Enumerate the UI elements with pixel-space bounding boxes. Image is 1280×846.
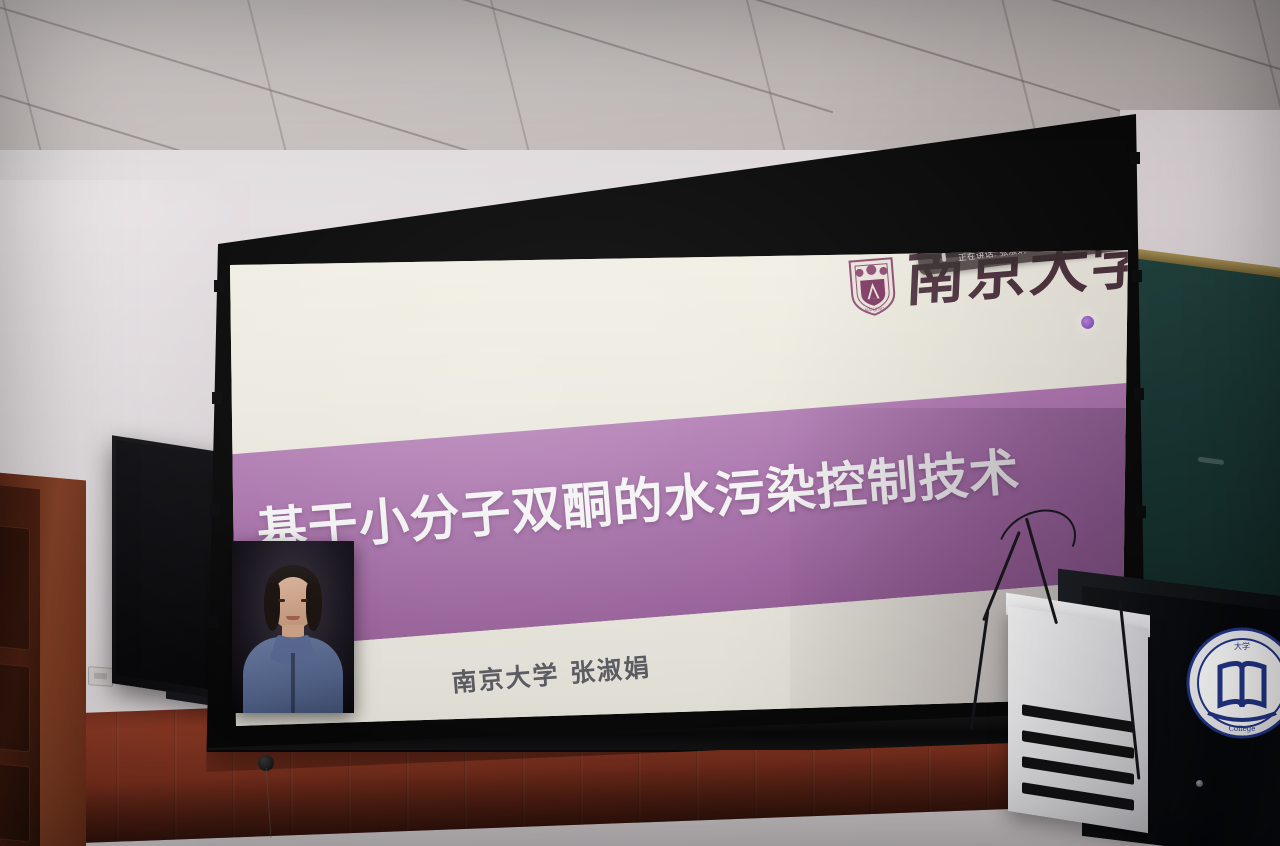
av-equipment-box — [1008, 606, 1148, 833]
speaker-video-thumbnail[interactable] — [232, 541, 354, 713]
svg-text:College: College — [1229, 725, 1256, 733]
lectern-screw — [1196, 780, 1203, 787]
door[interactable] — [0, 483, 40, 846]
lecture-hall-photo: NANJING 南京大学 正在讲话: 张淑娟 — [0, 0, 1280, 846]
nanjing-university-crest-icon: NANJING — [847, 256, 897, 317]
svg-text:大学: 大学 — [1234, 641, 1250, 651]
college-emblem-icon: 大学 College — [1186, 627, 1280, 739]
slide-content: NANJING 南京大学 正在讲话: 张淑娟 — [230, 250, 1128, 726]
mic-level-indicator — [941, 252, 946, 261]
wall-outlet — [88, 666, 113, 687]
